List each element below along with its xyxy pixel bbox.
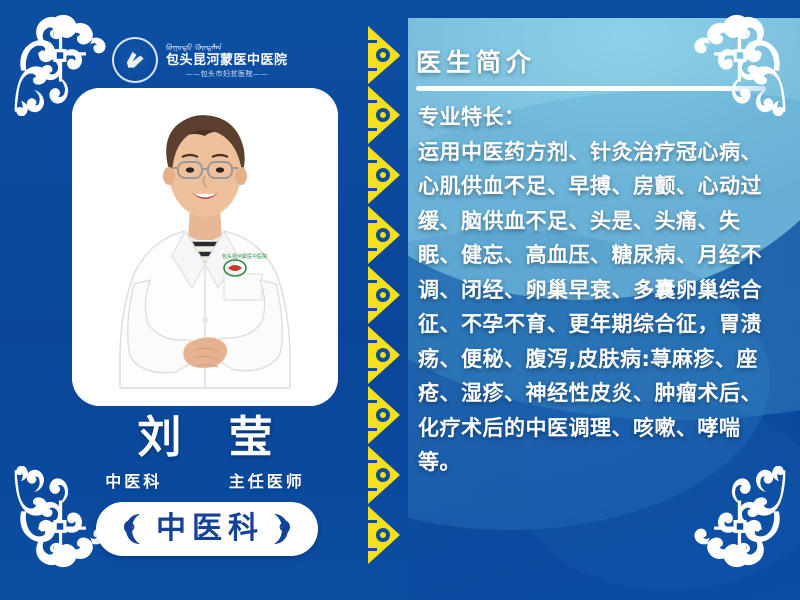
hospital-mongolian-script: ᠪᠤᠭᠤᠲᠤ ᠬᠦᠨᠳᠡᠯᠡᠨ	[166, 43, 288, 52]
top-border-strip	[0, 0, 800, 18]
department-badge: 中医科	[96, 502, 318, 556]
profile-body-text: 运用中医药方剂、针灸治疗冠心病、心肌供血不足、早搏、房颤、心动过缓、脑供血不足、…	[418, 135, 778, 480]
hospital-emblem-icon	[112, 37, 158, 83]
department-badge-label: 中医科	[144, 512, 270, 546]
doctor-portrait-image: 包头昆河蒙医中医院	[72, 88, 338, 406]
doctor-meta: 中医科 主任医师	[72, 468, 338, 492]
doctor-department: 中医科	[105, 468, 162, 492]
profile-lead-label: 专业特长：	[418, 100, 778, 135]
profile-heading: 医生简介	[416, 46, 778, 80]
profile-heading-underline	[416, 86, 766, 91]
mongolian-pattern-band	[366, 26, 402, 574]
hospital-subtitle: ——包头市妇贫医院——	[166, 70, 288, 78]
hospital-logo: ᠪᠤᠭᠤᠲᠤ ᠬᠦᠨᠳᠡᠯᠡᠨ 包头昆河蒙医中医院 ——包头市妇贫医院——	[112, 34, 332, 86]
doctor-name: 刘 莹	[72, 412, 338, 464]
hospital-logo-text: ᠪᠤᠭᠤᠲᠤ ᠬᠦᠨᠳᠡᠯᠡᠨ 包头昆河蒙医中医院 ——包头市妇贫医院——	[166, 43, 288, 78]
plaque-swirl-right-icon	[270, 512, 296, 546]
hospital-name: 包头昆河蒙医中医院	[166, 54, 288, 68]
doctor-profile-poster: ᠪᠤᠭᠤᠲᠤ ᠬᠦᠨᠳᠡᠯᠡᠨ 包头昆河蒙医中医院 ——包头市妇贫医院——	[0, 0, 800, 600]
profile-heading-block: 医生简介	[416, 46, 778, 91]
doctor-photo-card: 包头昆河蒙医中医院	[72, 88, 338, 406]
doctor-title: 主任医师	[229, 468, 305, 492]
plaque-swirl-left-icon	[118, 512, 144, 546]
svg-text:包头昆河蒙医中医院: 包头昆河蒙医中医院	[222, 253, 267, 260]
profile-body: 专业特长： 运用中医药方剂、针灸治疗冠心病、心肌供血不足、早搏、房颤、心动过缓、…	[418, 100, 778, 480]
